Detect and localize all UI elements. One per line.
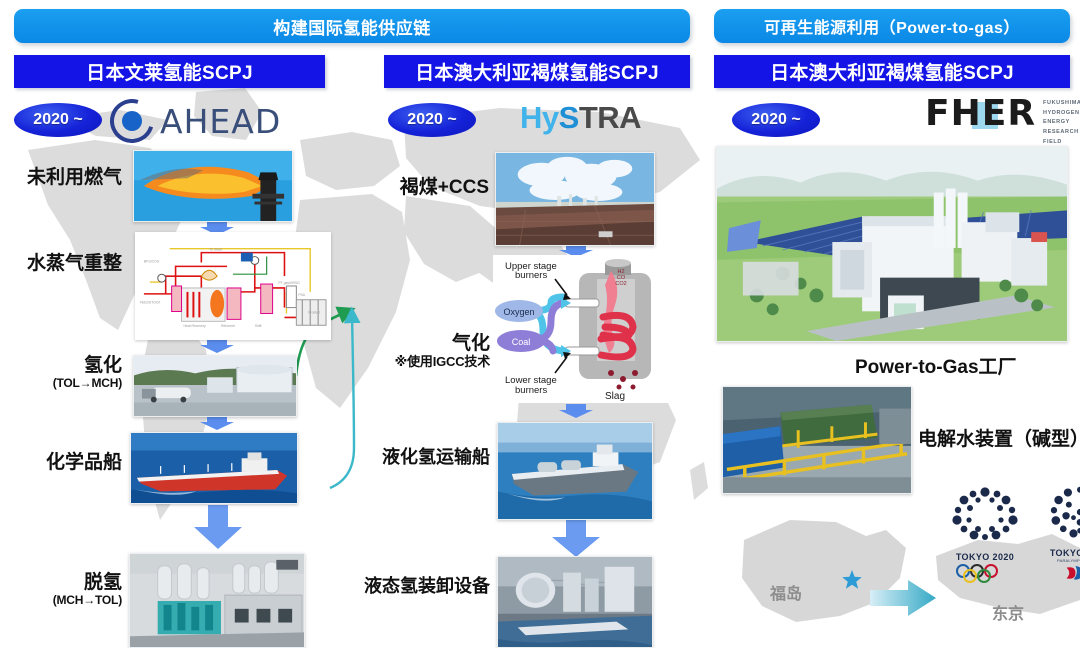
solar-hydrogen-plant-render [716,146,1068,342]
hystra-logo: HySTRA [520,100,641,136]
step-label-hydrogenation: 氢化 (TOL→MCH) [4,355,122,391]
gasifier-coal-label: Coal [512,337,531,347]
step-label-gasification: 气化 ※使用IGCC技术 [364,333,490,370]
flow-arrow-down [200,416,234,430]
fukushima-to-tokyo-arrow [870,578,936,618]
gasifier-diagram: Oxygen Coal Upper stage burners Lower st… [493,255,669,403]
column-title-power-to-gas: 日本澳大利亚褐煤氢能SCPJ [714,55,1070,88]
column-title-brown-coal: 日本澳大利亚褐煤氢能SCPJ [384,55,690,88]
gas-flare-photo [133,150,293,222]
fher-logo-subtext: FUKUSHIMA HYDROGEN ENERGY RESEARCH FIELD [1043,99,1080,147]
tokyo2020-olympic-caption: TOKYO 2020 [942,552,1028,562]
olympic-rings-icon [950,563,1020,583]
flow-arrow-down [559,404,593,418]
svg-text:To Stack: To Stack [209,248,222,252]
tokyo2020-paralympic-caption: TOKYO 2020 [1040,548,1080,558]
step-label-liquid-hydrogen-carrier: 液化氢运输船 [368,447,490,468]
banner-power-to-gas: 可再生能源利用（Power-to-gas） [714,9,1070,43]
step-label-unused-gas: 未利用燃气 [10,167,122,189]
svg-text:PSA: PSA [298,293,305,297]
svg-text:Shift: Shift [255,324,262,328]
hystra-logo-s: S [559,100,579,136]
olympic-ring-emblem-icon [942,484,1028,546]
svg-text:Reformer: Reformer [221,324,236,328]
year-badge-brunei: 2020 ~ [14,103,102,137]
agitos-icon [1061,565,1080,581]
hystra-logo-hy: Hy [520,100,559,136]
step-label-chemical-tanker: 化学品船 [8,452,122,474]
caption-power-to-gas-plant: Power-to-Gas工厂 [855,352,1017,379]
alkaline-electrolyzer-photo [722,386,912,494]
column-title-brunei: 日本文莱氢能SCPJ [14,55,325,88]
svg-text:Heat Recovery: Heat Recovery [184,324,207,328]
ahead-logo: AHEAD [110,98,281,144]
caption-alkaline-electrolyzer: 电解水装置（碱型） [918,424,1080,451]
tokyo2020-paralympic-subcaption: PARALYMPIC GAMES [1040,558,1080,563]
svg-text:BFG/COG: BFG/COG [144,259,160,263]
gasifier-lower-burner-label-2: burners [515,385,547,396]
banner-supply-chain: 构建国际氢能供应链 [14,9,690,43]
gasifier-oxygen-label: Oxygen [503,307,534,317]
australia-route-arrow [330,316,354,488]
tokyo2020-paralympic-emblem: TOKYO 2020 PARALYMPIC GAMES [1040,484,1080,586]
ahead-mark-icon [110,99,154,143]
brown-coal-mine-photo [495,152,655,246]
tokyo2020-olympic-emblem: TOKYO 2020 [942,484,1028,588]
svg-text:PT gas/HRSG: PT gas/HRSG [279,281,301,285]
map-label-fukushima: 福岛 [770,580,802,604]
gasifier-slag-label: Slag [605,391,625,402]
paralympic-emblem-icon [1040,484,1080,542]
map-label-tokyo: 东京 [992,600,1024,624]
flow-arrow-down [552,519,600,557]
hystra-logo-tra: TRA [579,100,641,136]
chemical-tanker-photo [130,432,298,504]
hydrogenation-plant-photo [133,355,297,417]
svg-text:FEEDSTOCK: FEEDSTOCK [140,301,161,305]
step-label-dehydrogenation: 脱氢 (MCH→TOL) [4,572,122,608]
flow-arrow-down [194,505,242,549]
svg-text:Product: Product [308,310,320,314]
dehydrogenation-plant-photo [129,553,305,648]
step-label-brown-coal-ccs: 褐煤+CCS [375,177,489,199]
svg-text:CO2: CO2 [615,281,626,287]
gasifier-upper-burner-label-2: burners [515,270,547,281]
star-marker-icon [842,570,862,590]
liquid-hydrogen-loading-terminal-photo [497,556,653,648]
steam-reforming-diagram: BFG/COGFEEDSTOCK Heat RecoveryReformer S… [135,232,331,340]
liquid-hydrogen-carrier-photo [497,422,653,520]
year-badge-brown-coal: 2020 ~ [388,103,476,137]
ahead-logo-text: AHEAD [160,102,281,141]
year-badge-power-to-gas: 2020 ~ [732,103,820,137]
fher-logo: FHER FUKUSHIMA HYDROGEN ENERGY RESEARCH … [925,96,1080,147]
step-label-steam-reforming: 水蒸气重整 [8,253,122,275]
step-label-liquid-hydrogen-loading: 液态氢装卸设备 [357,576,490,597]
fher-logo-text: FHER [925,96,1036,132]
flow-arrow-down [200,339,234,353]
slide-root: 构建国际氢能供应链 可再生能源利用（Power-to-gas） 日本文莱氢能SC… [0,0,1080,648]
